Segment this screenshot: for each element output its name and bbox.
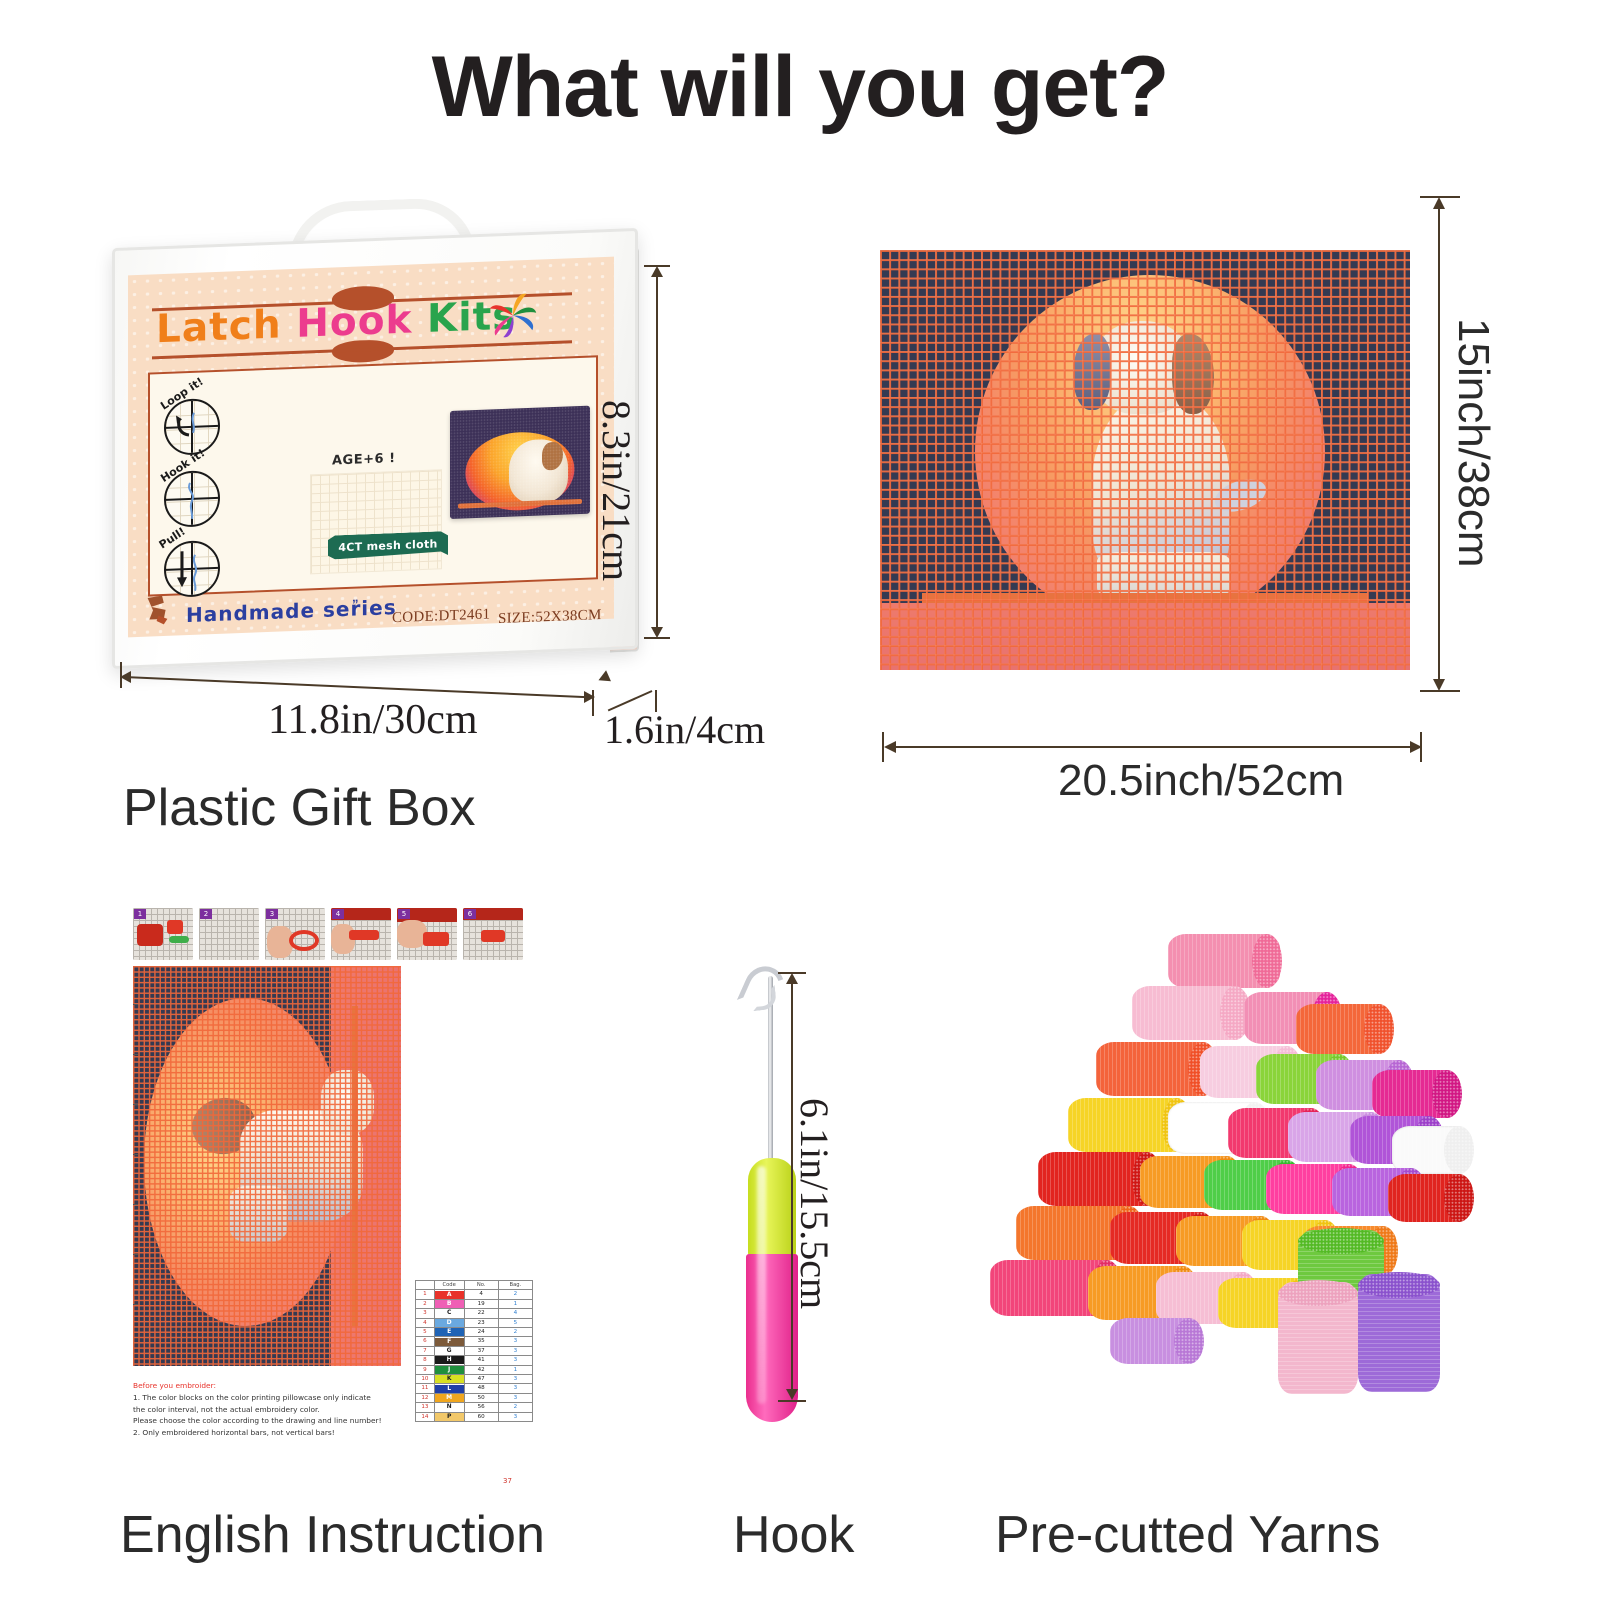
hook-caption: Hook	[733, 1505, 854, 1565]
instruction-thumb-1: 1	[133, 908, 193, 960]
cell-color-swatch: E	[434, 1328, 464, 1337]
th-no: No.	[464, 1281, 498, 1290]
chart-row-ticks	[133, 966, 138, 1366]
table-row: 11L483	[416, 1384, 533, 1393]
notice-line-1: 1. The color blocks on the color printin…	[133, 1393, 371, 1402]
gift-box-image: Latch Hook Kits Loop it!	[100, 190, 645, 660]
cell-color-swatch: H	[434, 1356, 464, 1365]
thumb-number-4: 4	[332, 909, 344, 919]
notice-line-2: the color interval, not the actual embro…	[133, 1405, 320, 1414]
infographic-page: What will you get? Latch Hook Kits	[0, 0, 1600, 1600]
canvas-height-label: 15inch/38cm	[1448, 318, 1498, 567]
cell-color-swatch: K	[434, 1375, 464, 1384]
thumb-number-1: 1	[134, 909, 146, 919]
before-embroider-notice: Before you embroider: 1. The color block…	[133, 1380, 433, 1438]
cell-bag: 2	[498, 1403, 532, 1412]
table-row: 7G373	[416, 1346, 533, 1355]
cell-index: 4	[416, 1318, 435, 1327]
gift-box-caption: Plastic Gift Box	[123, 778, 476, 838]
thumb-number-6: 6	[464, 909, 476, 919]
hook-tool-panel	[700, 960, 870, 1410]
chart-mesh-grid	[133, 966, 401, 1366]
table-header-row: Code No. Bag.	[416, 1281, 533, 1290]
cell-number: 23	[464, 1318, 498, 1327]
cell-bag: 3	[498, 1393, 532, 1402]
cell-bag: 3	[498, 1346, 532, 1355]
pinwheel-logo-icon	[484, 285, 542, 345]
yarn-piece	[1296, 1004, 1392, 1054]
cell-bag: 3	[498, 1412, 532, 1421]
cell-number: 41	[464, 1356, 498, 1365]
cell-bag: 4	[498, 1309, 532, 1318]
yarn-piece	[1392, 1126, 1472, 1174]
cell-number: 24	[464, 1328, 498, 1337]
mesh-cloth-swatch	[310, 469, 442, 574]
cell-bag: 1	[498, 1299, 532, 1308]
cell-color-swatch: J	[434, 1365, 464, 1374]
box-printed-card: Latch Hook Kits Loop it!	[128, 257, 614, 638]
cell-bag: 3	[498, 1375, 532, 1384]
printed-mesh-canvas	[880, 250, 1410, 670]
instruction-thumb-2: 2	[199, 908, 259, 960]
step-diagram-pull	[164, 540, 220, 598]
cell-index: 3	[416, 1309, 435, 1318]
cell-bag: 2	[498, 1290, 532, 1299]
cell-color-swatch: F	[434, 1337, 464, 1346]
finished-rug-preview	[450, 406, 590, 519]
table-row: 13N562	[416, 1403, 533, 1412]
box-depth-label: 1.6in/4cm	[604, 706, 765, 753]
cell-number: 35	[464, 1337, 498, 1346]
step-diagram-loop	[164, 398, 220, 456]
trademark-mark: ”	[352, 596, 359, 611]
hook-length-label: 6.1in/15.5cm	[791, 1098, 838, 1309]
instruction-caption: English Instruction	[120, 1505, 545, 1565]
cell-color-swatch: G	[434, 1346, 464, 1355]
cell-color-swatch: P	[434, 1412, 464, 1421]
notice-heading: Before you embroider:	[133, 1380, 433, 1391]
thumb-number-3: 3	[266, 909, 278, 919]
cell-index: 6	[416, 1337, 435, 1346]
color-code-table-body: 1A422B1913C2244D2355E2426F3537G3738H4139…	[416, 1290, 533, 1422]
cell-index: 7	[416, 1346, 435, 1355]
instruction-thumb-4: 4	[331, 908, 391, 960]
brand-word-hook: Hook	[296, 297, 412, 346]
th-bag: Bag.	[498, 1281, 532, 1290]
table-row: 14P603	[416, 1412, 533, 1421]
cell-bag: 1	[498, 1365, 532, 1374]
yarn-caption: Pre-cutted Yarns	[995, 1505, 1380, 1565]
table-row: 4D235	[416, 1318, 533, 1327]
gift-box-panel: Latch Hook Kits Loop it!	[100, 190, 660, 690]
cell-color-swatch: M	[434, 1393, 464, 1402]
handmade-ribbon-icon	[144, 591, 180, 628]
box-inner-panel: Loop it! Hook it!	[148, 355, 598, 596]
yarn-piece	[1132, 986, 1248, 1040]
yarn-piece	[1372, 1070, 1460, 1118]
cell-bag: 3	[498, 1384, 532, 1393]
instruction-thumb-6: 6	[463, 908, 523, 960]
yarn-bundle-vertical	[1278, 1282, 1358, 1394]
hook-handle-upper	[748, 1158, 796, 1256]
thumb-number-5: 5	[398, 909, 410, 919]
cell-color-swatch: C	[434, 1309, 464, 1318]
table-row: 10K473	[416, 1375, 533, 1384]
table-row: 2B191	[416, 1299, 533, 1308]
table-row: 6F353	[416, 1337, 533, 1346]
cell-bag: 3	[498, 1356, 532, 1365]
box-height-label: 8.3in/21cm	[593, 400, 640, 581]
yarn-piece	[1110, 1318, 1202, 1364]
color-code-total: 37	[503, 1477, 512, 1485]
cell-number: 4	[464, 1290, 498, 1299]
table-row: 1A42	[416, 1290, 533, 1299]
thumb-number-2: 2	[200, 909, 212, 919]
instruction-thumb-5: 5	[397, 908, 457, 960]
mesh-canvas-panel	[880, 250, 1410, 670]
box-width-label: 11.8in/30cm	[268, 696, 478, 744]
cell-number: 60	[464, 1412, 498, 1421]
yarn-piece	[1168, 934, 1280, 988]
cell-color-swatch: L	[434, 1384, 464, 1393]
cell-number: 37	[464, 1346, 498, 1355]
yarn-bundle-panel	[960, 930, 1480, 1390]
table-row: 5E242	[416, 1328, 533, 1337]
cell-number: 48	[464, 1384, 498, 1393]
cell-number: 42	[464, 1365, 498, 1374]
cell-index: 8	[416, 1356, 435, 1365]
cell-color-swatch: D	[434, 1318, 464, 1327]
hook-handle-highlight	[757, 1166, 766, 1404]
table-row: 9J421	[416, 1365, 533, 1374]
th-index	[416, 1281, 435, 1290]
notice-line-3: Please choose the color according to the…	[133, 1416, 382, 1425]
instruction-thumb-3: 3	[265, 908, 325, 960]
cell-number: 47	[464, 1375, 498, 1384]
cell-color-swatch: A	[434, 1290, 464, 1299]
cell-index: 1	[416, 1290, 435, 1299]
cell-index: 9	[416, 1365, 435, 1374]
th-code: Code	[434, 1281, 464, 1290]
instruction-sheet-panel: 1 2 3 4	[125, 900, 545, 1480]
table-row: 12M503	[416, 1393, 533, 1402]
cell-bag: 3	[498, 1337, 532, 1346]
cell-number: 22	[464, 1309, 498, 1318]
canvas-mesh-grid-highlight	[880, 250, 1410, 670]
cell-bag: 2	[498, 1328, 532, 1337]
instruction-thumbnail-strip: 1 2 3 4	[133, 908, 523, 960]
cell-number: 56	[464, 1403, 498, 1412]
yarn-piece	[1388, 1174, 1472, 1222]
yarn-bundle-vertical	[1358, 1274, 1440, 1392]
age-note: AGE+6 !	[332, 451, 396, 468]
cell-color-swatch: B	[434, 1299, 464, 1308]
instruction-chart-canvas	[133, 966, 401, 1366]
page-title: What will you get?	[0, 38, 1600, 137]
table-row: 8H413	[416, 1356, 533, 1365]
cell-color-swatch: N	[434, 1403, 464, 1412]
step-diagram-hook	[164, 470, 220, 528]
cell-index: 2	[416, 1299, 435, 1308]
cell-index: 5	[416, 1328, 435, 1337]
brand-word-latch: Latch	[156, 302, 282, 352]
canvas-width-label: 20.5inch/52cm	[1058, 756, 1344, 806]
cell-bag: 5	[498, 1318, 532, 1327]
notice-line-4: 2. Only embroidered horizontal bars, not…	[133, 1428, 335, 1437]
table-row: 3C224	[416, 1309, 533, 1318]
cell-number: 19	[464, 1299, 498, 1308]
cell-number: 50	[464, 1393, 498, 1402]
yarn-piece	[1096, 1042, 1216, 1096]
